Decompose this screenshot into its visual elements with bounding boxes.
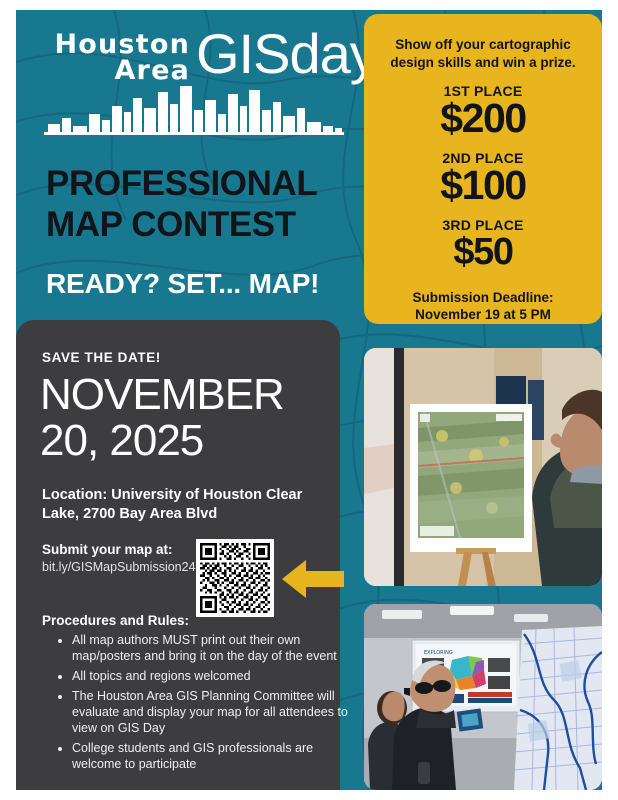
tagline: READY? SET... MAP! — [46, 268, 386, 300]
rules-heading: Procedures and Rules: — [42, 613, 189, 628]
list-item: All topics and regions welcomed — [72, 668, 348, 684]
svg-text:EXPLORING: EXPLORING — [424, 650, 453, 656]
title-line-1: PROFESSIONAL — [46, 164, 317, 203]
list-item: The Houston Area GIS Planning Committee … — [72, 688, 348, 736]
list-item: All map authors MUST print out their own… — [72, 632, 348, 664]
prize-panel: Show off your cartographic design skills… — [364, 14, 602, 324]
arrow-left-icon — [282, 558, 344, 600]
logo-houston-area: Houston Area — [50, 32, 190, 84]
submission-url[interactable]: bit.ly/GISMapSubmission24 — [42, 560, 196, 574]
title-line-2: MAP CONTEST — [46, 204, 376, 245]
gis-day-logo: Houston Area GISday — [36, 28, 356, 140]
prize-amount-1: $200 — [364, 97, 602, 139]
event-date: NOVEMBER 20, 2025 — [40, 372, 330, 464]
rules-list: All map authors MUST print out their own… — [50, 632, 348, 776]
prize-amount-3: $50 — [364, 231, 602, 273]
event-date-line-1: NOVEMBER — [40, 370, 284, 419]
photo-man-viewing-map-poster-art — [364, 348, 602, 586]
photo-man-viewing-map-poster — [364, 348, 602, 586]
deadline-label: Submission Deadline: — [364, 289, 602, 306]
flyer-root: Houston Area GISday — [0, 0, 618, 800]
submission-deadline: Submission Deadline: November 19 at 5 PM — [364, 289, 602, 323]
event-date-line-2: 20, 2025 — [40, 418, 330, 464]
submit-map-label: Submit your map at: — [42, 542, 173, 557]
qr-code-icon[interactable] — [196, 539, 274, 617]
page-title: PROFESSIONAL MAP CONTEST — [46, 163, 376, 245]
photo-attendees-viewing-maps: EXPLORING — [364, 604, 602, 790]
save-the-date-label: SAVE THE DATE! — [42, 350, 161, 365]
event-details-panel: SAVE THE DATE! NOVEMBER 20, 2025 Locatio… — [16, 320, 340, 790]
qr-code-matrix — [200, 543, 270, 613]
prize-intro-text: Show off your cartographic design skills… — [364, 36, 602, 72]
prize-amount-2: $100 — [364, 164, 602, 206]
list-item: College students and GIS professionals a… — [72, 740, 348, 772]
logo-gisday-wordmark: GISday — [196, 24, 377, 84]
photo-attendees-viewing-maps-art: EXPLORING — [364, 604, 602, 790]
city-skyline-icon — [44, 84, 344, 140]
deadline-value: November 19 at 5 PM — [364, 306, 602, 323]
event-location: Location: University of Houston Clear La… — [42, 486, 318, 524]
logo-line-area: Area — [50, 58, 190, 84]
teal-background: Houston Area GISday — [16, 10, 602, 790]
